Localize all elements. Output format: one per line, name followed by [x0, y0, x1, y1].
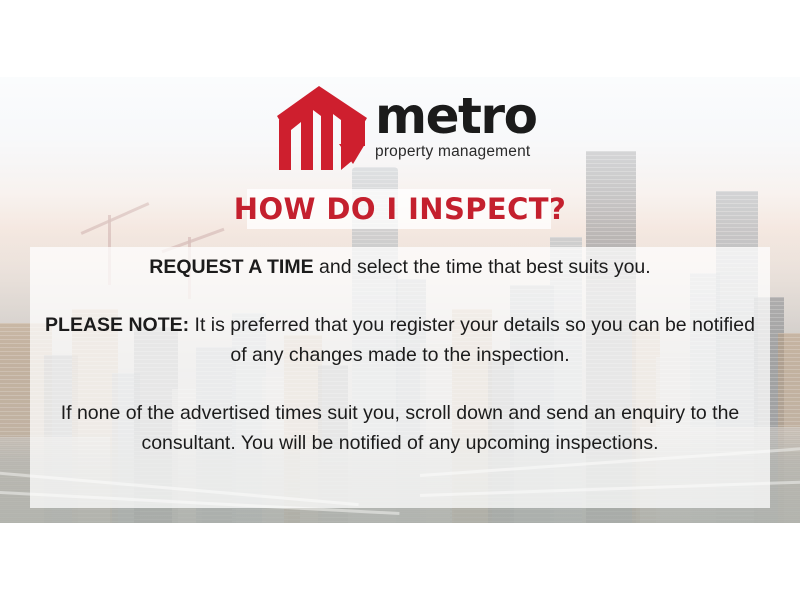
- paragraph-request-a-time: REQUEST A TIME and select the time that …: [40, 252, 760, 282]
- paragraph-2-rest: It is preferred that you register your d…: [189, 314, 755, 366]
- slide-canvas: metro property management HOW DO I INSPE…: [0, 0, 800, 600]
- brand-tagline: property management: [375, 143, 536, 161]
- paragraph-no-times-suit: If none of the advertised times suit you…: [40, 398, 760, 458]
- brand-name: metro: [375, 92, 536, 141]
- metro-logo: metro property management: [273, 86, 533, 172]
- paragraph-1-rest: and select the time that best suits you.: [314, 256, 651, 278]
- metro-house-m-logo-icon: [273, 86, 367, 170]
- paragraph-1-strong: REQUEST A TIME: [149, 256, 313, 278]
- metro-logo-wordmark: metro property management: [375, 86, 536, 161]
- paragraph-3-rest: If none of the advertised times suit you…: [61, 402, 740, 454]
- page-title: HOW DO I INSPECT?: [0, 192, 800, 226]
- paragraph-2-strong: PLEASE NOTE:: [45, 314, 189, 336]
- paragraph-please-note: PLEASE NOTE: It is preferred that you re…: [40, 310, 760, 370]
- body-copy: REQUEST A TIME and select the time that …: [40, 252, 760, 458]
